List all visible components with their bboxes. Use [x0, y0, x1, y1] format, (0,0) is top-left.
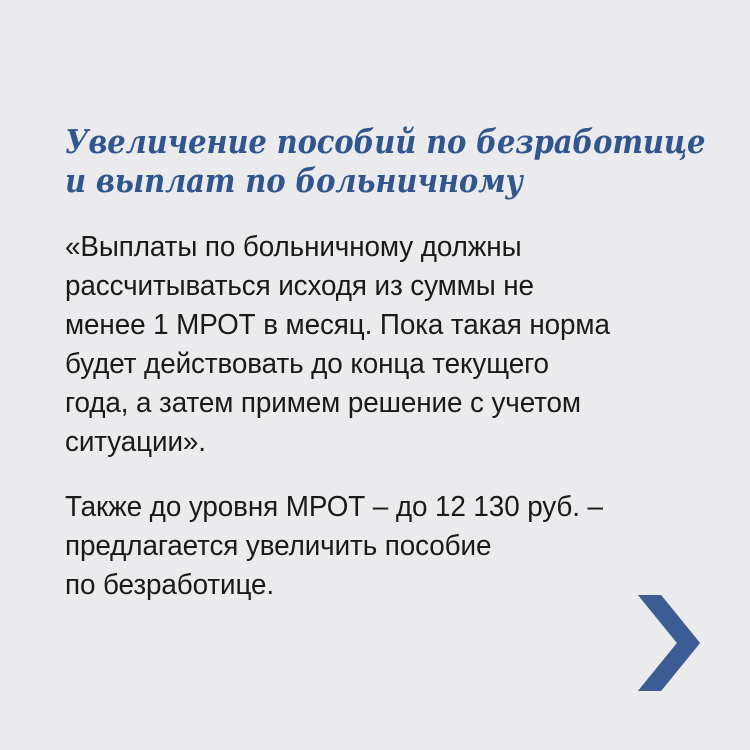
body-text: «Выплаты по больничному должны рассчитыв… — [65, 228, 705, 605]
card-content: Увеличение пособий по безработице и выпл… — [65, 122, 705, 605]
note-paragraph: Также до уровня МРОТ – до 12 130 руб. – … — [65, 488, 694, 605]
quote-paragraph: «Выплаты по больничному должны рассчитыв… — [65, 228, 694, 462]
social-card: Увеличение пособий по безработице и выпл… — [0, 0, 750, 750]
page-title: Увеличение пособий по безработице и выпл… — [65, 122, 716, 200]
chevron-right-icon — [636, 595, 700, 693]
